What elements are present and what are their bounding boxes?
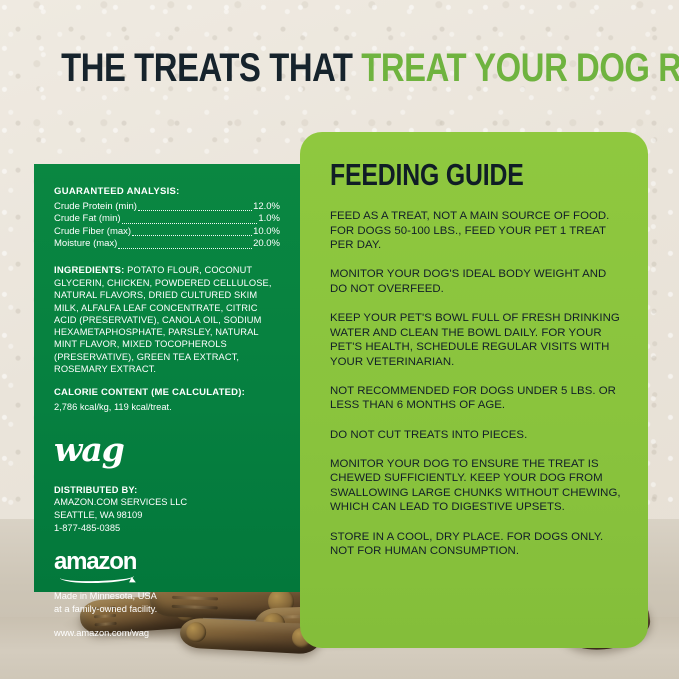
ga-label: Crude Fiber (max) (54, 226, 131, 238)
headline-part-green: TREAT YOUR DOG RIGHT (361, 46, 679, 90)
calorie-content-value: 2,786 kcal/kg, 119 kcal/treat. (54, 401, 280, 413)
calorie-content-block: CALORIE CONTENT (ME CALCULATED): 2,786 k… (54, 387, 280, 413)
ga-value: 20.0% (253, 238, 280, 250)
distributed-by-block: DISTRIBUTED BY: AMAZON.COM SERVICES LLC … (54, 484, 280, 534)
feeding-guide-paragraph: MONITOR YOUR DOG'S IDEAL BODY WEIGHT AND… (330, 267, 626, 296)
nutrition-panel: GUARANTEED ANALYSIS: Crude Protein (min)… (34, 164, 300, 592)
feeding-guide-panel: FEEDING GUIDE FEED AS A TREAT, NOT A MAI… (300, 132, 648, 648)
page-headline: THE TREATS THAT TREAT YOUR DOG RIGHT (61, 46, 618, 90)
ingredients-heading: INGREDIENTS: (54, 265, 125, 276)
amazon-smile-arrow-icon (60, 569, 134, 584)
distributed-by-heading: DISTRIBUTED BY: (54, 484, 280, 497)
distributor-name: AMAZON.COM SERVICES LLC (54, 496, 280, 509)
made-in-block: Made in Minnesota, USA at a family-owned… (54, 590, 280, 615)
leader-dots (122, 223, 258, 224)
feeding-guide-paragraph: DO NOT CUT TREATS INTO PIECES. (330, 428, 626, 443)
ga-label: Crude Fat (min) (54, 213, 121, 225)
headline-part-dark: THE TREATS THAT (61, 46, 361, 90)
ga-label: Moisture (max) (54, 238, 117, 250)
made-in-line1: Made in Minnesota, USA (54, 590, 280, 603)
leader-dots (132, 235, 252, 236)
feeding-guide-paragraph: MONITOR YOUR DOG TO ENSURE THE TREAT IS … (330, 457, 626, 515)
feeding-guide-paragraph: NOT RECOMMENDED FOR DOGS UNDER 5 LBS. OR… (330, 384, 626, 413)
feeding-guide-paragraph: KEEP YOUR PET'S BOWL FULL OF FRESH DRINK… (330, 311, 626, 369)
product-label-image: THE TREATS THAT TREAT YOUR DOG RIGHT GUA… (0, 0, 679, 679)
table-row: Crude Protein (min) 12.0% (54, 201, 280, 213)
calorie-content-heading: CALORIE CONTENT (ME CALCULATED): (54, 387, 280, 399)
leader-dots (118, 248, 252, 249)
website-url[interactable]: www.amazon.com/wag (54, 628, 280, 638)
made-in-line2: at a family-owned facility. (54, 603, 280, 616)
table-row: Crude Fiber (max) 10.0% (54, 226, 280, 238)
wag-brand-logo: wag (54, 433, 280, 467)
distributor-city: SEATTLE, WA 98109 (54, 509, 280, 522)
ingredients-block: INGREDIENTS: POTATO FLOUR, COCONUT GLYCE… (54, 264, 280, 376)
feeding-guide-paragraph: STORE IN A COOL, DRY PLACE. FOR DOGS ONL… (330, 530, 626, 559)
ga-value: 10.0% (253, 226, 280, 238)
distributor-phone: 1-877-485-0385 (54, 522, 280, 535)
table-row: Crude Fat (min) 1.0% (54, 213, 280, 225)
amazon-logo: amazon (54, 550, 150, 580)
guaranteed-analysis-title: GUARANTEED ANALYSIS: (54, 186, 280, 197)
ga-label: Crude Protein (min) (54, 201, 137, 213)
ga-value: 1.0% (258, 213, 280, 225)
ingredients-text: POTATO FLOUR, COCONUT GLYCERIN, CHICKEN,… (54, 265, 272, 374)
leader-dots (138, 210, 252, 211)
feeding-guide-paragraph: FEED AS A TREAT, NOT A MAIN SOURCE OF FO… (330, 209, 626, 253)
table-row: Moisture (max) 20.0% (54, 238, 280, 250)
feeding-guide-title: FEEDING GUIDE (330, 158, 567, 191)
ga-value: 12.0% (253, 201, 280, 213)
